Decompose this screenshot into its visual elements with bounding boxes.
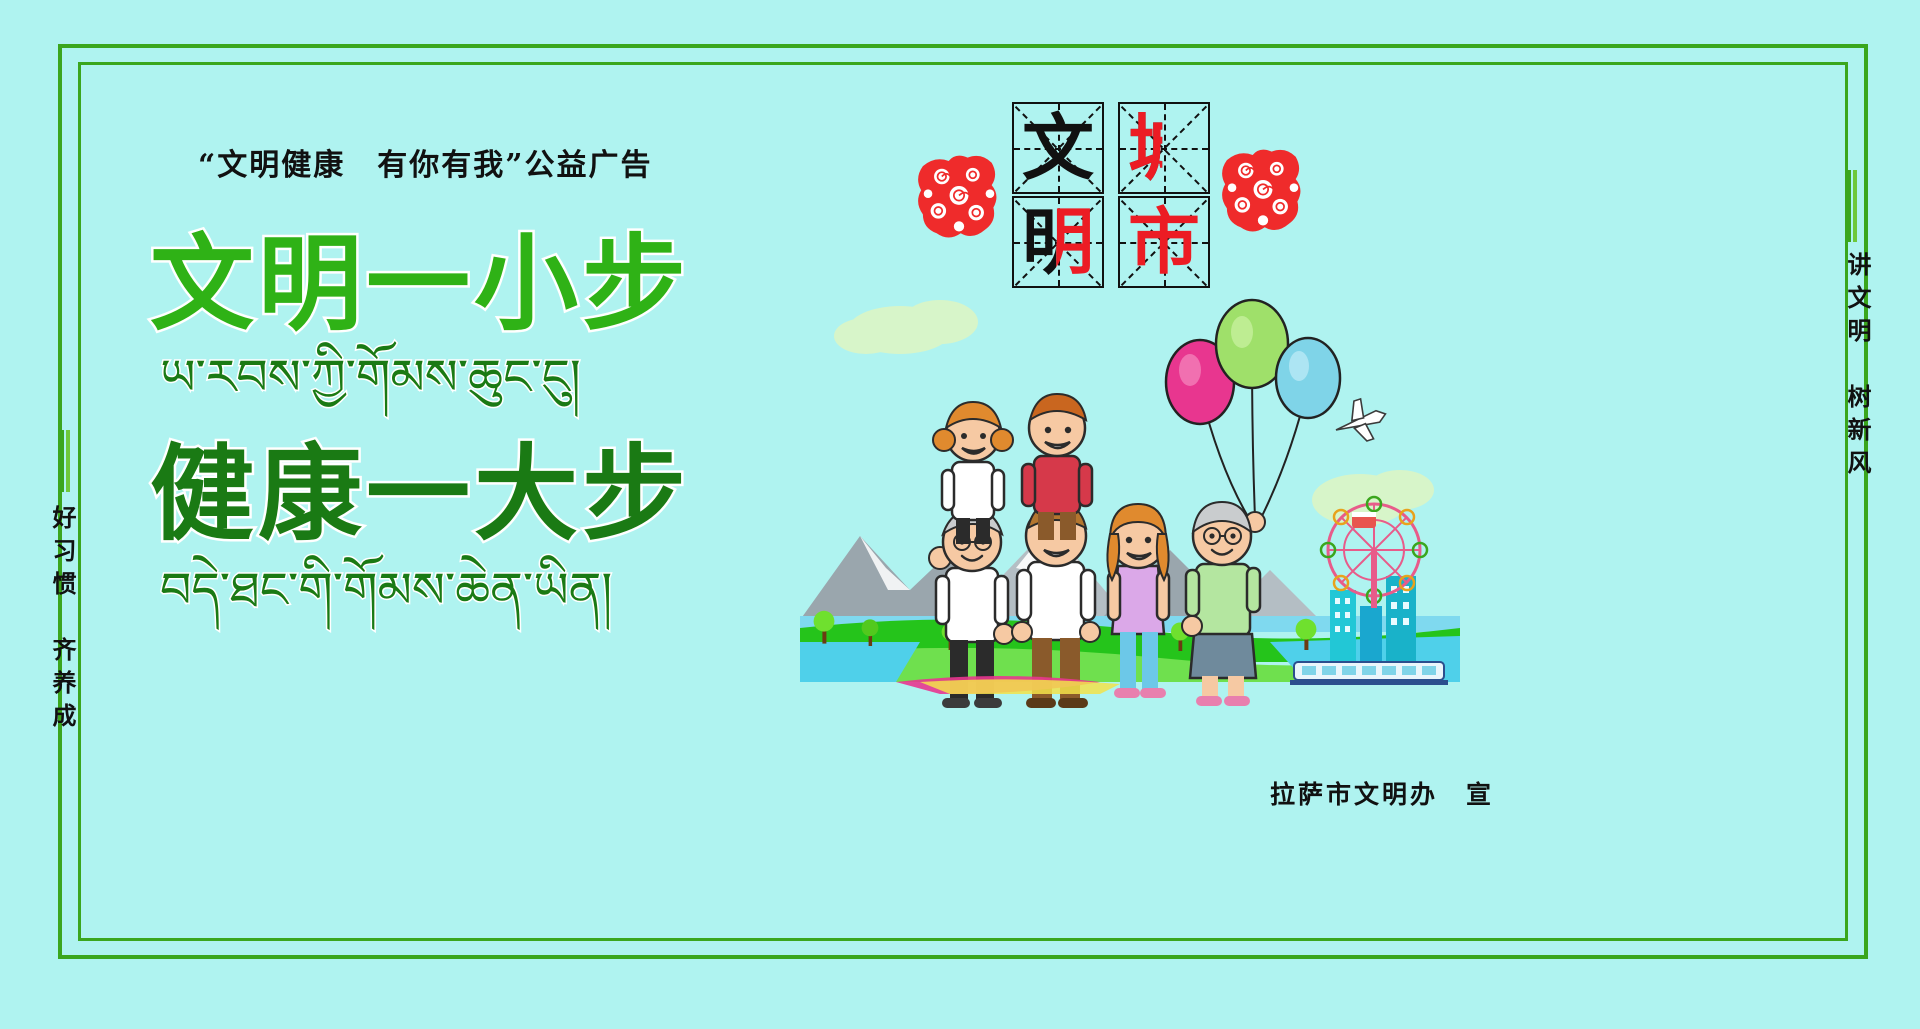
- calligraphy-seal-block: 文 城 城 明 明 市: [1000, 98, 1330, 288]
- right-vertical-rule: [1847, 170, 1857, 242]
- headline-tibetan-2: བདེ་ཐང་གི་གོམས་ཆེན་ཡིན།: [160, 560, 790, 621]
- issuer-signature: 拉萨市文明办 宣: [1270, 775, 1494, 811]
- balloon-blue: [1276, 338, 1340, 418]
- seal-cell-cheng: 城 城: [1118, 102, 1210, 194]
- headline-cn-1: 文明一小步: [150, 230, 790, 339]
- seal-cell-ming: 明 明: [1012, 196, 1104, 288]
- cable-car: [1352, 512, 1376, 528]
- papercut-ornament-left-icon: [916, 150, 1002, 246]
- headline-tibetan-1: ཡ་རབས་ཀྱི་གོམས་ཆུང་ངུ།: [160, 347, 790, 408]
- balloons-group: [1166, 300, 1340, 520]
- campaign-quote: “文明健康 有你有我”公益广告: [198, 140, 790, 184]
- seal-char-shi: 市: [1120, 198, 1208, 286]
- headline-block: “文明健康 有你有我”公益广告 文明一小步 ཡ་རབས་ཀྱི་གོམས་ཆུང…: [150, 140, 790, 621]
- seal-char-wen: 文: [1014, 104, 1102, 192]
- family-illustration: [800, 290, 1460, 710]
- papercut-ornament-right-icon: [1220, 144, 1306, 240]
- left-vertical-rule: [60, 430, 70, 492]
- left-vertical-slogan: 好习惯 齐养成: [50, 505, 74, 736]
- airplane: [1329, 393, 1391, 449]
- poster-canvas: 好习惯 齐养成 讲文明 树新风 “文明健康 有你有我”公益广告 文明一小步 ཡ་…: [0, 0, 1920, 1029]
- train: [1290, 662, 1448, 685]
- clouds-group: [834, 300, 1434, 526]
- headline-cn-2: 健康一大步: [150, 440, 790, 549]
- seal-cell-shi: 市: [1118, 196, 1210, 288]
- right-vertical-slogan: 讲文明 树新风: [1845, 252, 1869, 483]
- grid-cross-v: [1164, 104, 1166, 192]
- illustration-scene: [800, 290, 1460, 710]
- person-grandmother: [1182, 502, 1265, 706]
- seal-cell-wen: 文: [1012, 102, 1104, 194]
